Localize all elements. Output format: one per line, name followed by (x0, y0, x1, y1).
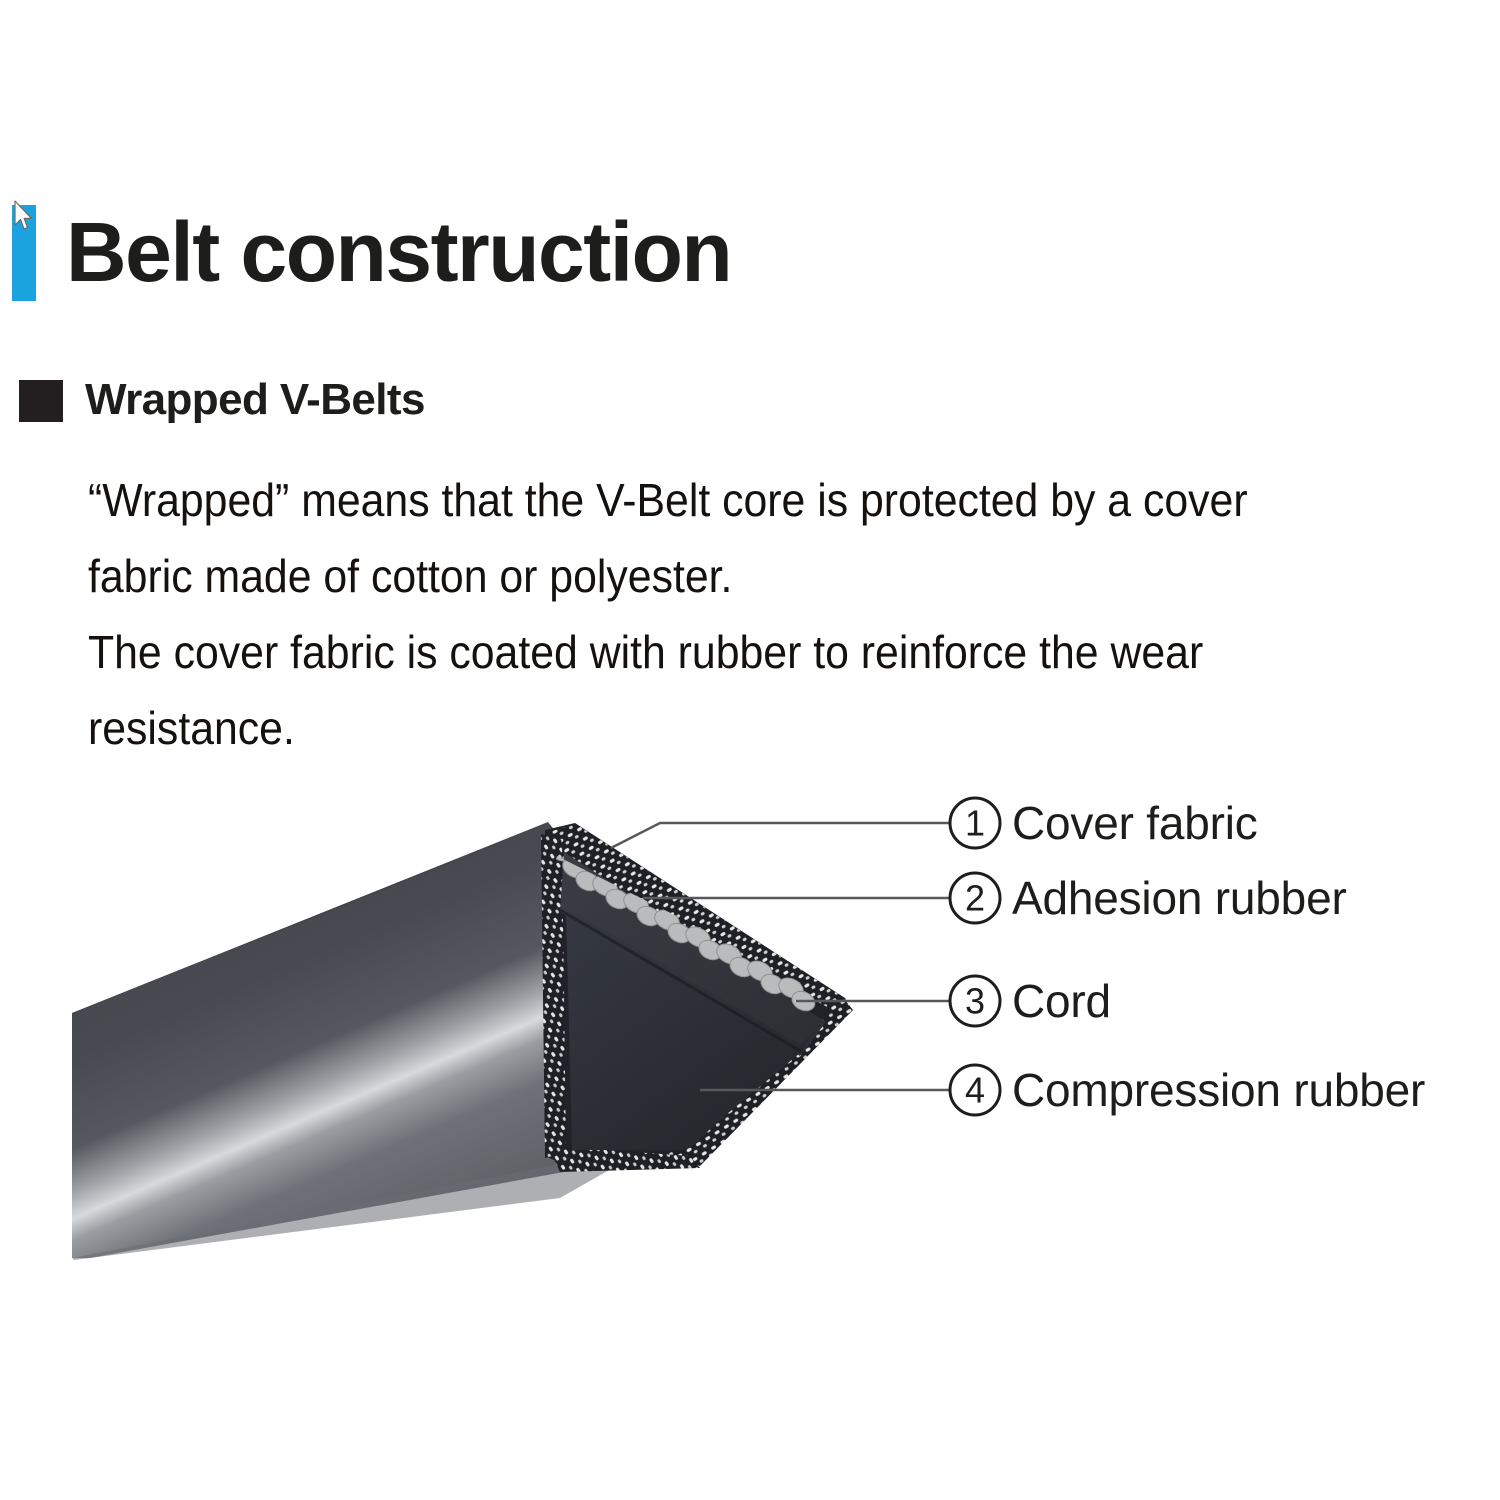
page-title-block: Belt construction (0, 196, 1000, 316)
body-line-3: The cover fabric is coated with rubber t… (88, 614, 1371, 690)
body-copy: “Wrapped” means that the V-Belt core is … (88, 462, 1468, 766)
belt-diagram: 1 2 3 4 (0, 760, 1500, 1320)
body-line-2: fabric made of cotton or polyester. (88, 538, 1371, 614)
section-bullet-square (19, 380, 63, 422)
section-heading-label: Wrapped V-Belts (85, 372, 425, 428)
body-line-1: “Wrapped” means that the V-Belt core is … (88, 462, 1371, 538)
leader-line-1 (611, 823, 950, 848)
page-title: Belt construction (66, 196, 731, 308)
body-line-4: resistance. (88, 690, 1371, 766)
callout-number-2: 2 (965, 878, 985, 919)
title-accent-bar (12, 205, 36, 301)
callout-circles: 1 2 3 4 (950, 798, 1000, 1115)
callout-number-4: 4 (965, 1070, 985, 1111)
callout-number-1: 1 (965, 803, 985, 844)
callout-number-3: 3 (965, 981, 985, 1022)
